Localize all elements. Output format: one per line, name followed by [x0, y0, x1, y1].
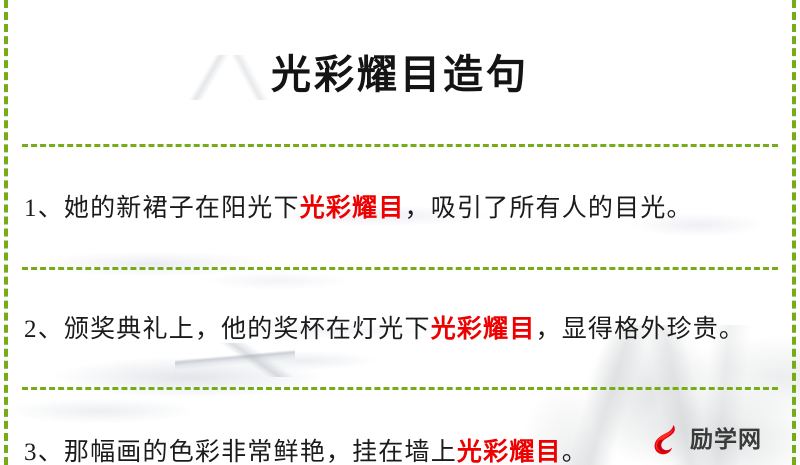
sentence-text-after: ，吸引了所有人的目光。: [405, 195, 693, 222]
sentence-text-before: 那幅画的色彩非常鲜艳，挂在墙上: [64, 439, 457, 465]
highlighted-idiom: 光彩耀目: [300, 195, 405, 222]
sentence-number: 1、: [24, 195, 64, 222]
divider-top: [22, 144, 778, 147]
sentence-text-before: 颁奖典礼上，他的奖杯在灯光下: [64, 316, 431, 343]
sentence-number: 2、: [24, 316, 64, 343]
sentence-text-after: ，显得格外珍贵。: [536, 316, 746, 343]
dashed-border-right: [792, 0, 796, 465]
sentence-text-after: 。: [562, 439, 588, 465]
red-swirl-flame-icon: [648, 421, 684, 457]
dashed-border-left: [4, 0, 8, 465]
sentence-text-before: 她的新裙子在阳光下: [64, 195, 300, 222]
divider-after-sentence-1: [22, 267, 778, 270]
page-title: 光彩耀目造句: [18, 27, 782, 117]
highlighted-idiom: 光彩耀目: [431, 316, 536, 343]
sentence-number: 3、: [24, 439, 64, 465]
site-logo[interactable]: 励学网: [648, 421, 762, 457]
page-root: 光彩耀目造句 1、她的新裙子在阳光下光彩耀目，吸引了所有人的目光。 2、颁奖典礼…: [0, 0, 800, 465]
sentence-item: 2、颁奖典礼上，他的奖杯在灯光下光彩耀目，显得格外珍贵。: [18, 295, 782, 362]
logo-text: 励学网: [690, 428, 762, 451]
sentence-item: 1、她的新裙子在阳光下光彩耀目，吸引了所有人的目光。: [18, 172, 782, 242]
content-area: 光彩耀目造句 1、她的新裙子在阳光下光彩耀目，吸引了所有人的目光。 2、颁奖典礼…: [0, 27, 800, 465]
highlighted-idiom: 光彩耀目: [457, 439, 562, 465]
divider-after-sentence-2: [22, 387, 778, 390]
